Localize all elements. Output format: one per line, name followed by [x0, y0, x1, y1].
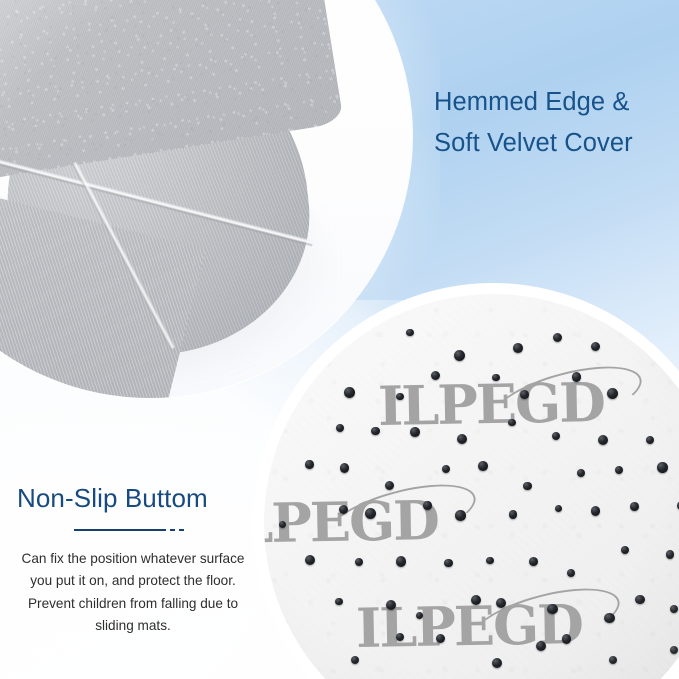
body-line-1: Can fix the position whatever surface	[8, 548, 258, 570]
divider-line	[74, 529, 166, 531]
body-line-3: Prevent children from falling due to	[8, 593, 258, 615]
body-line-4: sliding mats.	[8, 615, 258, 637]
bottom-feature-heading: Non-Slip Buttom	[17, 481, 208, 515]
top-feature-heading-line-1: Hemmed Edge &	[434, 82, 679, 123]
top-feature-heading-line-2: Soft Velvet Cover	[434, 123, 679, 164]
heading-divider	[74, 529, 184, 531]
bottom-feature-body: Can fix the position whatever surface yo…	[8, 548, 258, 638]
mat-photo: ILPEGD ILPEGD ILPEGD	[264, 294, 679, 679]
non-slip-mat-photo-circle: ILPEGD ILPEGD ILPEGD	[258, 288, 679, 679]
top-feature-heading: Hemmed Edge & Soft Velvet Cover	[434, 82, 679, 164]
divider-dash	[179, 529, 184, 531]
body-line-2: you put it on, and protect the floor.	[8, 570, 258, 592]
divider-dash	[170, 529, 175, 531]
product-feature-poster: ILPEGD ILPEGD ILPEGD Hemmed Edge & Soft …	[0, 0, 679, 679]
